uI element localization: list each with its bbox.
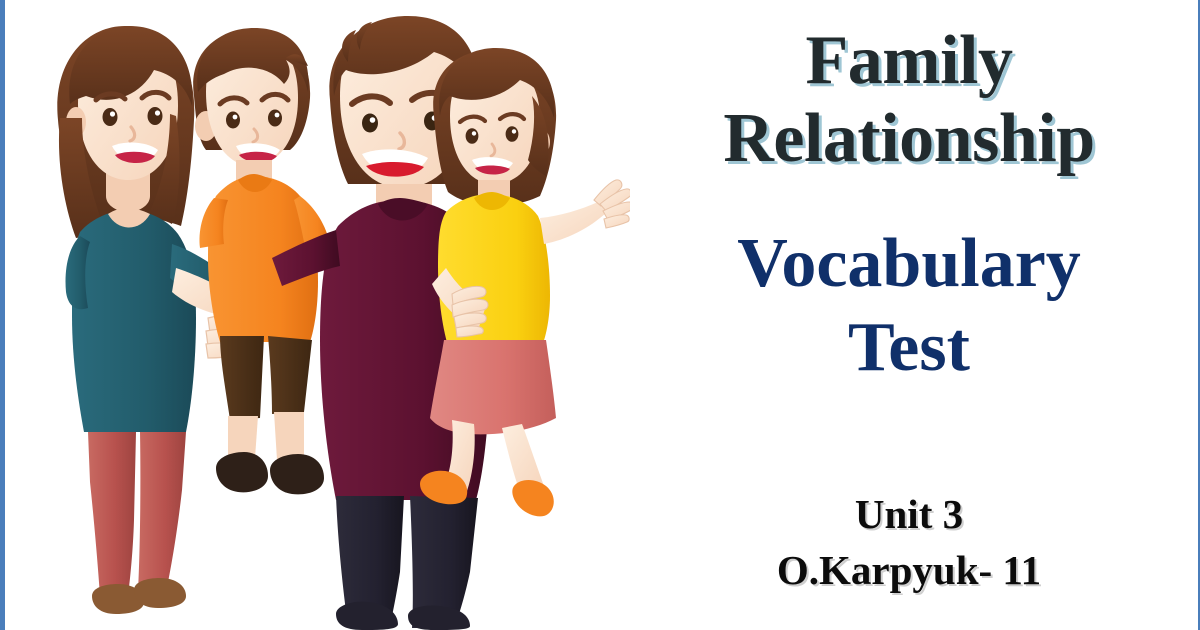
subtitle-line-vocabulary: Vocabulary <box>737 225 1081 302</box>
byline: Unit 3 O.Karpyuk- 11 <box>620 487 1198 599</box>
family-illustration <box>0 0 630 630</box>
byline-unit: Unit 3 <box>620 487 1198 543</box>
page-title: Family Relationship <box>620 22 1198 179</box>
title-line-family: Family <box>806 22 1013 99</box>
text-panel: Family Relationship Vocabulary Test Unit… <box>620 0 1198 630</box>
byline-author: O.Karpyuk- 11 <box>620 543 1198 599</box>
slide-root: Family Relationship Vocabulary Test Unit… <box>0 0 1200 630</box>
title-line-relationship: Relationship <box>723 100 1094 177</box>
subtitle-line-test: Test <box>620 306 1198 390</box>
page-subtitle: Vocabulary Test <box>620 222 1198 390</box>
